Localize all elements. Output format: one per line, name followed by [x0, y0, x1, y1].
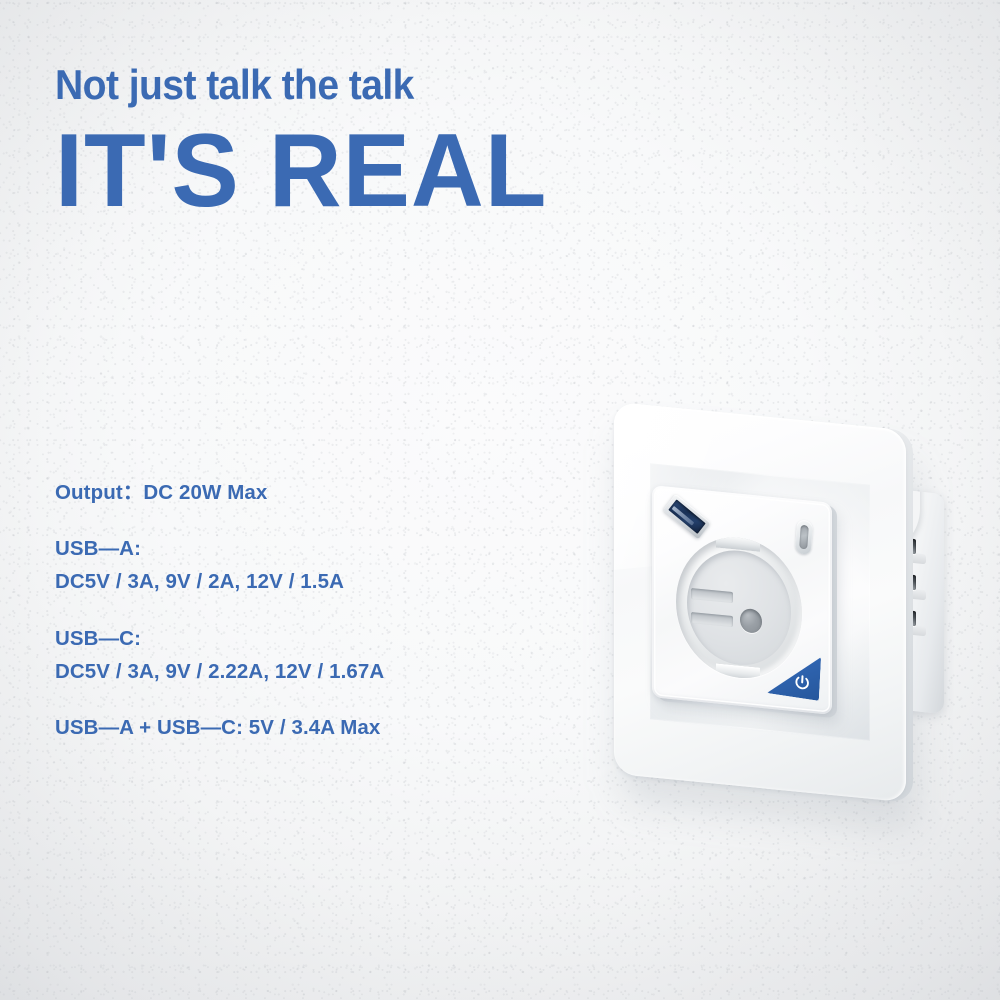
spec-group-usb-a: USB—A: DC5V / 3A, 9V / 2A, 12V / 1.5A — [55, 532, 384, 598]
socket-pin-hole — [691, 588, 733, 603]
power-icon — [793, 673, 811, 692]
spec-label-usb-c: USB—C: — [55, 622, 384, 655]
power-button[interactable] — [767, 649, 821, 701]
spec-value-usb-a: DC5V / 3A, 9V / 2A, 12V / 1.5A — [55, 565, 384, 598]
socket-center-hole — [740, 608, 762, 634]
socket-insert — [652, 485, 832, 715]
headline-block: Not just talk the talk IT'S REAL — [55, 64, 563, 220]
product-image-wall-socket — [596, 398, 996, 828]
spec-label-usb-a: USB—A: — [55, 532, 384, 565]
spec-group-usb-c: USB—C: DC5V / 3A, 9V / 2.22A, 12V / 1.67… — [55, 622, 384, 688]
socket-pin-hole — [691, 612, 733, 627]
usb-c-slot — [799, 525, 809, 550]
usb-c-port[interactable] — [795, 519, 813, 555]
spec-line-output: Output：DC 20W Max — [55, 476, 384, 509]
headline-hero: IT'S REAL — [55, 124, 547, 220]
spec-value-usb-c: DC5V / 3A, 9V / 2.22A, 12V / 1.67A — [55, 655, 384, 688]
headline-kicker: Not just talk the talk — [55, 64, 527, 106]
spec-line-combined: USB—A + USB—C: 5V / 3.4A Max — [55, 711, 384, 744]
poster-canvas: Not just talk the talk IT'S REAL Output：… — [0, 0, 1000, 1000]
spec-group-combined: USB—A + USB—C: 5V / 3.4A Max — [55, 711, 384, 744]
specifications-block: Output：DC 20W Max USB—A: DC5V / 3A, 9V /… — [55, 476, 384, 744]
spec-group-output: Output：DC 20W Max — [55, 476, 384, 509]
